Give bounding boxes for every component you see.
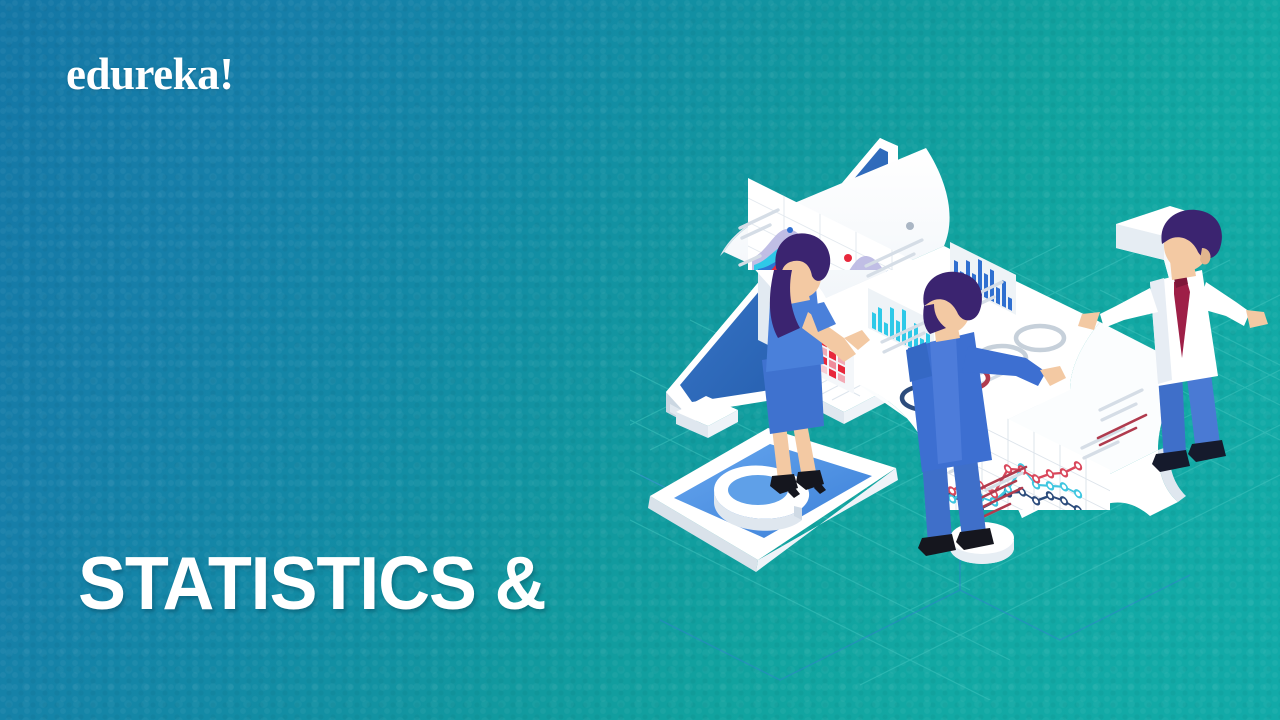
page-title-line-1: STATISTICS & — [78, 547, 553, 621]
page-title: STATISTICS & PROBABILITY — [78, 400, 553, 720]
illustration-isometric-analytics — [630, 20, 1280, 700]
slide-canvas: edureka! STATISTICS & PROBABILITY — [0, 0, 1280, 720]
smartphone-with-donut-chart — [648, 428, 898, 572]
edureka-logo[interactable]: edureka! — [66, 52, 234, 97]
